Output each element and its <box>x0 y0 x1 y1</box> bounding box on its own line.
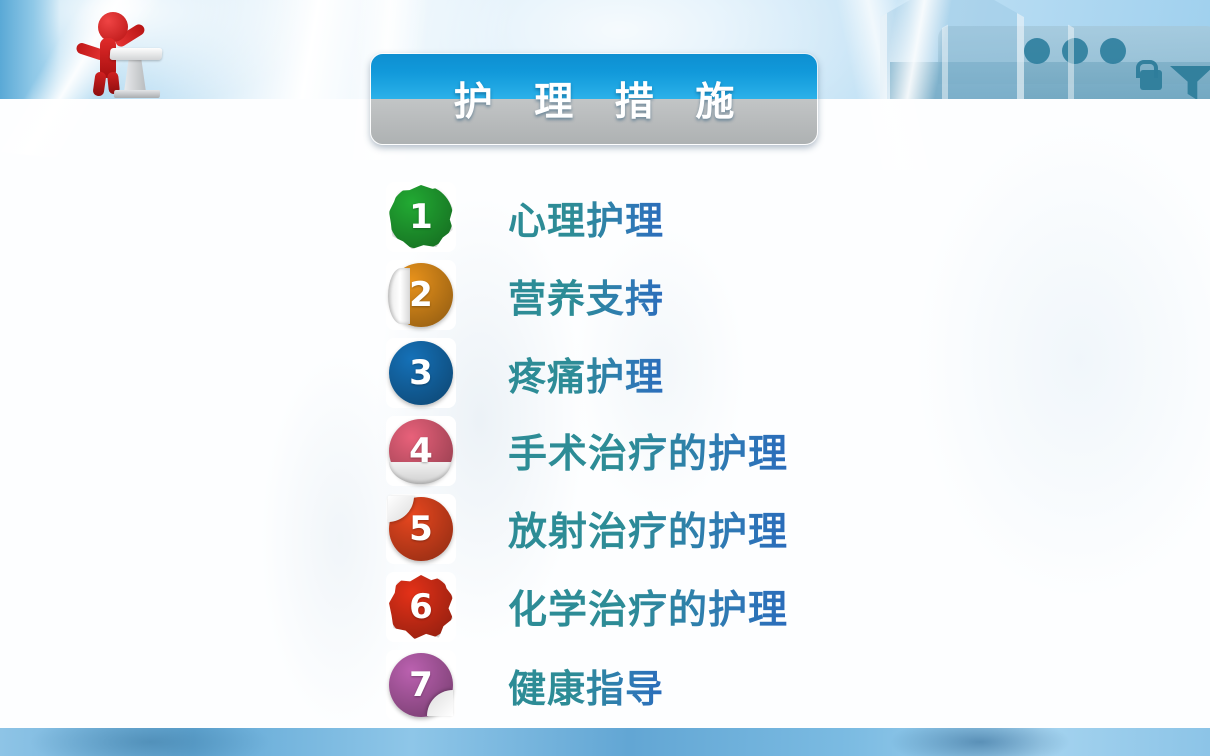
badge-number-label: 2 <box>409 278 433 312</box>
list-item[interactable]: 1心理护理 <box>386 178 1086 256</box>
list-item-label: 健康指导 <box>508 658 664 713</box>
badge-number-label: 5 <box>409 512 433 546</box>
lock-icon <box>1140 70 1162 90</box>
presenter-head <box>98 12 128 42</box>
tech-glow-highlight <box>870 0 990 99</box>
bottom-background-band <box>0 728 1210 756</box>
tech-decoration <box>870 0 1210 99</box>
podium-top <box>110 48 163 60</box>
badge-number-2: 2 <box>386 260 456 330</box>
window-dot-3-icon <box>1100 38 1126 64</box>
list-item[interactable]: 4手术治疗的护理 <box>386 412 1086 490</box>
podium-base <box>114 90 161 98</box>
list-item[interactable]: 5放射治疗的护理 <box>386 490 1086 568</box>
list-item[interactable]: 7健康指导 <box>386 646 1086 724</box>
page-title: 护 理 措 施 <box>371 54 817 144</box>
list-item-label: 疼痛护理 <box>508 346 664 401</box>
list-item[interactable]: 2营养支持 <box>386 256 1086 334</box>
badge-number-label: 1 <box>409 200 433 234</box>
badge-number-label: 3 <box>409 356 433 390</box>
list-item-label: 营养支持 <box>508 268 664 323</box>
badge-number-6: 6 <box>386 572 456 642</box>
slide-canvas: 护 理 措 施 1心理护理2营养支持3疼痛护理4手术治疗的护理5放射治疗的护理6… <box>0 0 1210 756</box>
badge-number-5: 5 <box>386 494 456 564</box>
badge-number-label: 7 <box>409 668 433 702</box>
list-item-label: 放射治疗的护理 <box>508 501 788 557</box>
badge-number-1: 1 <box>386 182 456 252</box>
list-item[interactable]: 3疼痛护理 <box>386 334 1086 412</box>
presenter-left-leg <box>92 71 106 96</box>
slide-title-banner: 护 理 措 施 <box>370 53 818 145</box>
list-item-label: 手术治疗的护理 <box>508 423 788 479</box>
list-item-label: 化学治疗的护理 <box>508 579 788 635</box>
podium-column <box>124 58 146 92</box>
badge-peel-corner <box>388 268 410 324</box>
badge-number-7: 7 <box>386 650 456 720</box>
list-item[interactable]: 6化学治疗的护理 <box>386 568 1086 646</box>
badge-number-label: 6 <box>409 590 433 624</box>
list-item-label: 心理护理 <box>508 190 664 245</box>
badge-number-4: 4 <box>386 416 456 486</box>
badge-number-label: 4 <box>409 434 433 468</box>
measures-list: 1心理护理2营养支持3疼痛护理4手术治疗的护理5放射治疗的护理6化学治疗的护理7… <box>386 178 1086 724</box>
presenter-podium-icon <box>62 6 162 98</box>
badge-number-3: 3 <box>386 338 456 408</box>
